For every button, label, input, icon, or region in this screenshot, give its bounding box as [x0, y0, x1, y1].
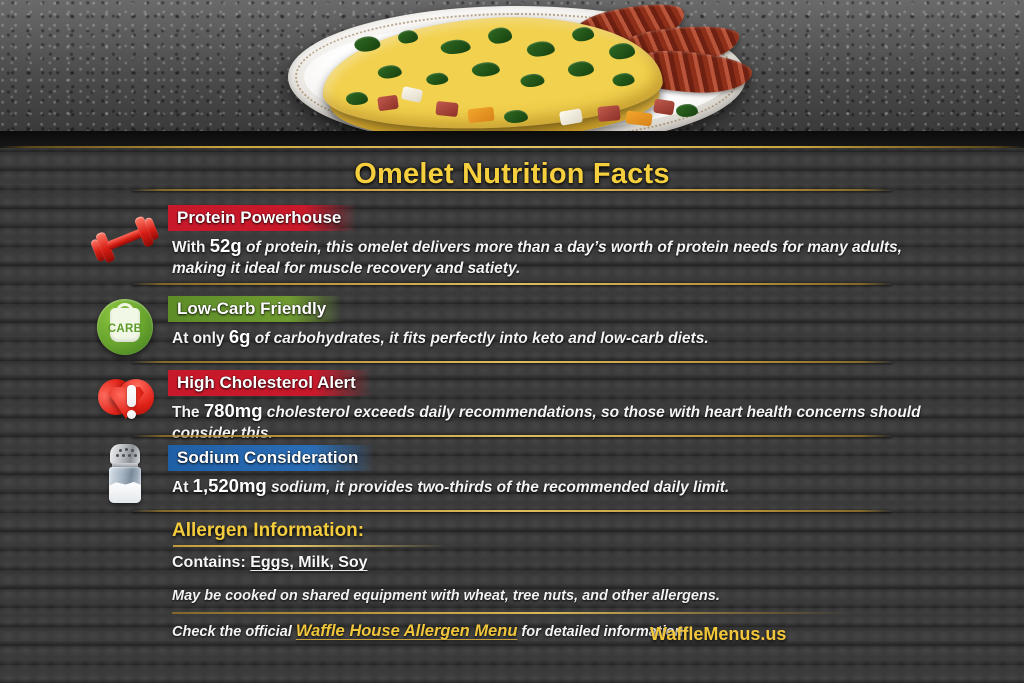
fact-body-protein: With 52g of protein, this omelet deliver…	[172, 235, 952, 279]
badge-protein: Protein Powerhouse	[168, 205, 357, 231]
dumbbell-icon	[88, 209, 162, 271]
allergen-note: May be cooked on shared equipment with w…	[172, 588, 720, 604]
separator	[132, 435, 892, 437]
infographic-page: Omelet Nutrition Facts Protein Powerhous…	[0, 0, 1024, 683]
body-suffix: of protein, this omelet delivers more th…	[172, 239, 902, 277]
body-prefix: At	[172, 479, 193, 496]
fact-section-cholesterol: High Cholesterol Alert The 780mg cholest…	[0, 370, 1024, 432]
carb-bag-icon: CARB	[88, 296, 162, 358]
fact-value: 780mg	[204, 400, 263, 421]
page-title: Omelet Nutrition Facts	[0, 158, 1024, 191]
badge-label: Low-Carb Friendly	[177, 299, 326, 319]
fact-value: 6g	[229, 326, 251, 347]
contains-label: Contains:	[172, 554, 250, 571]
brand-wordmark[interactable]: WaffleMenus.us	[650, 624, 786, 645]
badge-cholesterol: High Cholesterol Alert	[168, 370, 372, 396]
allergen-title: Allergen Information:	[172, 520, 364, 542]
separator	[132, 283, 892, 285]
fact-section-lowcarb: CARB Low-Carb Friendly At only 6g of car…	[0, 296, 1024, 358]
fact-section-protein: Protein Powerhouse With 52g of protein, …	[0, 205, 1024, 281]
allergen-contains: Contains: Eggs, Milk, Soy	[172, 554, 368, 572]
body-prefix: At only	[172, 330, 229, 347]
content-area: Omelet Nutrition Facts Protein Powerhous…	[0, 148, 1024, 683]
fact-body-cholesterol: The 780mg cholesterol exceeds daily reco…	[172, 400, 952, 444]
body-prefix: With	[172, 239, 210, 256]
contains-list: Eggs, Milk, Soy	[250, 554, 367, 571]
fact-section-sodium: Sodium Consideration At 1,520mg sodium, …	[0, 445, 1024, 507]
hero-food-photo	[0, 0, 1024, 131]
badge-lowcarb: Low-Carb Friendly	[168, 296, 342, 322]
badge-label: Protein Powerhouse	[177, 208, 341, 228]
badge-sodium: Sodium Consideration	[168, 445, 374, 471]
body-prefix: The	[172, 404, 204, 421]
check-prefix: Check the official	[172, 624, 296, 640]
fact-value: 1,520mg	[193, 475, 267, 496]
fact-value: 52g	[210, 235, 242, 256]
allergen-menu-link[interactable]: Waffle House Allergen Menu	[296, 622, 518, 640]
body-suffix: sodium, it provides two-thirds of the re…	[267, 479, 729, 496]
fact-body-sodium: At 1,520mg sodium, it provides two-third…	[172, 475, 952, 498]
badge-label: Sodium Consideration	[177, 448, 358, 468]
salt-shaker-icon	[88, 443, 162, 505]
heart-exclamation-icon	[88, 370, 162, 432]
separator	[132, 510, 892, 512]
separator	[132, 361, 892, 363]
separator	[172, 612, 852, 614]
fact-body-lowcarb: At only 6g of carbohydrates, it fits per…	[172, 326, 952, 349]
body-suffix: of carbohydrates, it fits perfectly into…	[250, 330, 708, 347]
allergen-check-line: Check the official Waffle House Allergen…	[172, 622, 688, 641]
allergen-title-underline	[173, 545, 447, 547]
separator	[132, 189, 892, 191]
carb-icon-label: CARB	[97, 323, 153, 335]
badge-label: High Cholesterol Alert	[177, 373, 356, 393]
